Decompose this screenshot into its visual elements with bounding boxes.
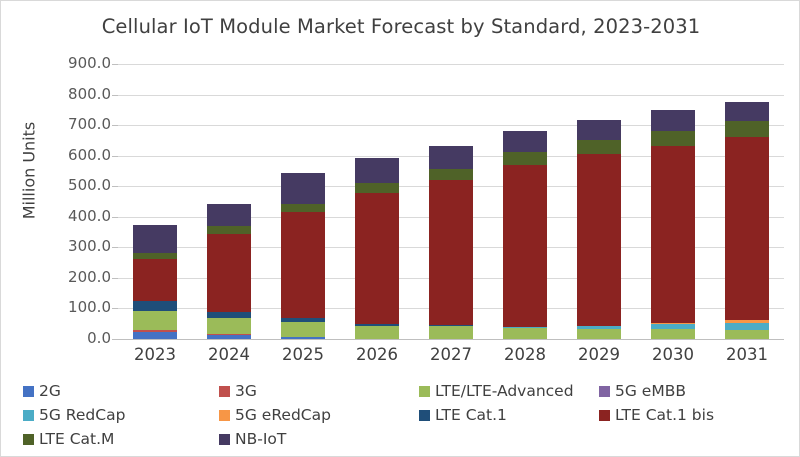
x-tick-label: 2029 [562,345,636,364]
x-tick-label: 2030 [636,345,710,364]
legend-item[interactable]: 2G [23,384,61,400]
bar-segment[interactable] [651,146,695,323]
bar-segment[interactable] [429,146,473,169]
y-axis-tick-labels: 0.0100.0200.0300.0400.0500.0600.0700.080… [39,64,111,339]
y-tick-label: 900.0 [41,56,111,71]
x-tick-label: 2026 [340,345,414,364]
bar-segment[interactable] [133,301,177,311]
y-tick-label: 0.0 [41,331,111,346]
bar-segment[interactable] [429,326,473,339]
legend-label: LTE Cat.M [39,432,114,448]
legend-item[interactable]: 5G eRedCap [219,408,331,424]
legend-swatch [219,386,230,397]
bar-segment[interactable] [503,328,547,339]
legend-label: 5G eMBB [615,384,686,400]
legend-label: 2G [39,384,61,400]
bar-segment[interactable] [577,140,621,154]
bar-column[interactable] [133,225,177,339]
legend-item[interactable]: 3G [219,384,257,400]
bar-segment[interactable] [207,226,251,234]
bar-column[interactable] [577,120,621,339]
bar-segment[interactable] [207,318,251,335]
bar-segment[interactable] [503,152,547,165]
chart-title: Cellular IoT Module Market Forecast by S… [1,15,800,38]
y-tick-label: 600.0 [41,148,111,163]
y-tick-label: 500.0 [41,178,111,193]
legend-item[interactable]: LTE Cat.M [23,432,114,448]
legend-item[interactable]: LTE Cat.1 [419,408,507,424]
legend-swatch [599,410,610,421]
legend-swatch [219,434,230,445]
bar-segment[interactable] [725,121,769,137]
bar-column[interactable] [281,173,325,339]
bar-column[interactable] [503,131,547,339]
legend-label: LTE/LTE-Advanced [435,384,574,400]
bar-segment[interactable] [355,193,399,324]
bar-segment[interactable] [577,329,621,339]
bar-column[interactable] [355,158,399,339]
legend-swatch [23,410,34,421]
legend-label: LTE Cat.1 bis [615,408,714,424]
legend-swatch [23,434,34,445]
bar-column[interactable] [651,110,695,339]
x-axis-tick-labels: 202320242025202620272028202920302031 [118,345,784,371]
bar-segment[interactable] [355,158,399,183]
y-tick-label: 700.0 [41,117,111,132]
y-tick-label: 400.0 [41,209,111,224]
bar-column[interactable] [207,204,251,339]
x-tick-label: 2027 [414,345,488,364]
y-tick-label: 300.0 [41,239,111,254]
x-axis-line [118,339,784,340]
y-tick-label: 200.0 [41,270,111,285]
bar-segment[interactable] [503,131,547,152]
legend-item[interactable]: LTE/LTE-Advanced [419,384,574,400]
gridline [118,64,784,65]
legend-item[interactable]: NB-IoT [219,432,286,448]
bar-segment[interactable] [281,322,325,337]
legend-label: 5G RedCap [39,408,125,424]
bar-segment[interactable] [429,169,473,180]
legend-label: NB-IoT [235,432,286,448]
bar-segment[interactable] [355,326,399,339]
gridline [118,95,784,96]
bar-segment[interactable] [651,329,695,339]
legend-label: 5G eRedCap [235,408,331,424]
x-tick-label: 2025 [266,345,340,364]
legend-swatch [23,386,34,397]
bar-column[interactable] [725,102,769,339]
legend-swatch [419,386,430,397]
bar-segment[interactable] [133,332,177,339]
x-tick-label: 2031 [710,345,784,364]
bar-segment[interactable] [725,102,769,121]
bar-segment[interactable] [429,180,473,325]
x-tick-label: 2024 [192,345,266,364]
bar-segment[interactable] [207,234,251,312]
legend-swatch [419,410,430,421]
legend-item[interactable]: 5G eMBB [599,384,686,400]
bar-segment[interactable] [725,323,769,330]
bar-column[interactable] [429,146,473,339]
bar-segment[interactable] [281,212,325,318]
bar-segment[interactable] [577,120,621,140]
bar-segment[interactable] [725,330,769,339]
bar-segment[interactable] [503,165,547,328]
bar-segment[interactable] [281,204,325,213]
legend-item[interactable]: 5G RedCap [23,408,125,424]
legend-label: 3G [235,384,257,400]
bar-segment[interactable] [651,110,695,131]
x-tick-label: 2023 [118,345,192,364]
bar-segment[interactable] [577,154,621,326]
y-axis-title: Million Units [20,81,39,261]
chart-legend: 2G3GLTE/LTE-Advanced5G eMBB5G RedCap5G e… [23,384,785,452]
y-tick-label: 100.0 [41,300,111,315]
bar-segment[interactable] [355,183,399,193]
bar-segment[interactable] [651,131,695,146]
legend-swatch [219,410,230,421]
y-tick-label: 800.0 [41,87,111,102]
bar-segment[interactable] [133,311,177,330]
legend-item[interactable]: LTE Cat.1 bis [599,408,714,424]
bar-segment[interactable] [281,173,325,204]
bar-segment[interactable] [133,253,177,260]
bar-segment[interactable] [133,259,177,301]
chart-container: Cellular IoT Module Market Forecast by S… [0,0,800,457]
x-tick-label: 2028 [488,345,562,364]
bar-segment[interactable] [207,204,251,226]
bar-segment[interactable] [725,137,769,320]
plot-area [118,64,784,339]
bar-segment[interactable] [133,225,177,252]
legend-label: LTE Cat.1 [435,408,507,424]
legend-swatch [599,386,610,397]
